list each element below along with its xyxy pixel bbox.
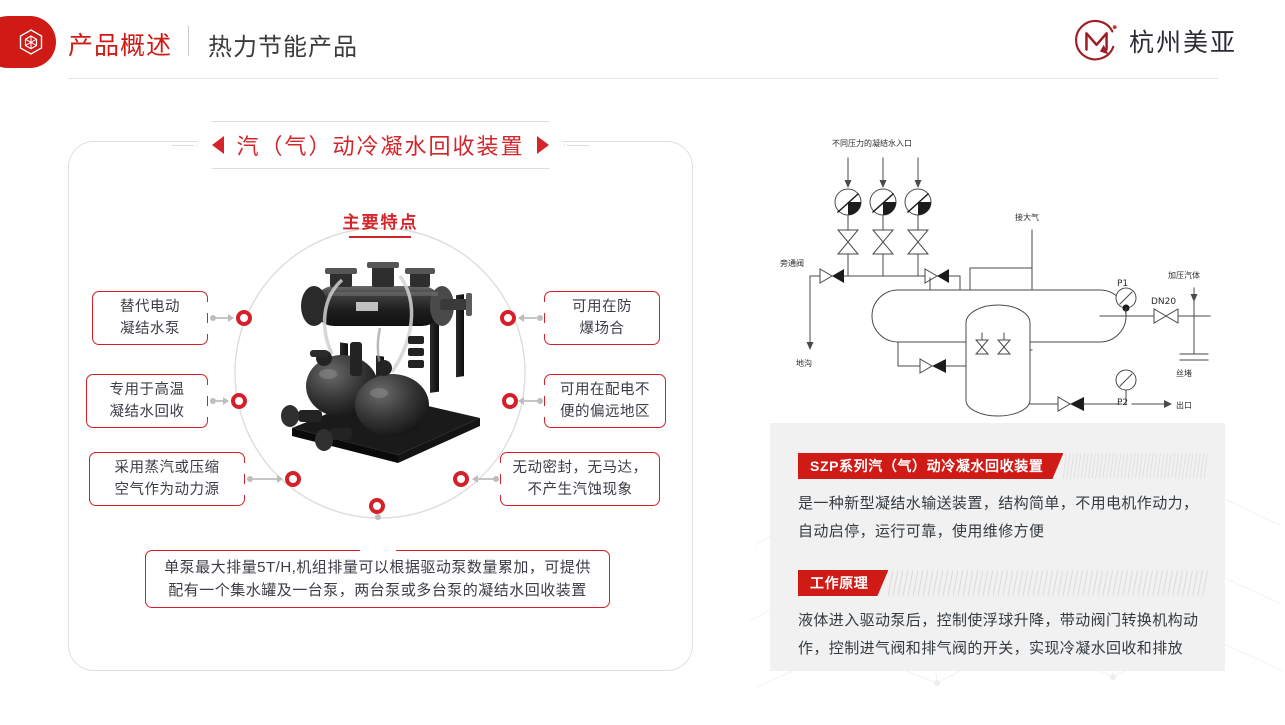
features-heading: 主要特点 bbox=[68, 208, 693, 233]
diagram-label-atmosphere: 接大气 bbox=[1015, 212, 1039, 222]
feature-connector-right-1 bbox=[518, 313, 543, 323]
diagram-label-p2: P2 bbox=[1117, 398, 1128, 408]
schematic-diagram-svg: 不同压力的凝结水入口 旁通阀 接大气 地沟 P1 P2 DN20 加压汽体 丝堵… bbox=[770, 118, 1225, 423]
connector-nub bbox=[493, 476, 499, 482]
feature-dot-6 bbox=[502, 393, 518, 409]
product-photo bbox=[280, 250, 490, 465]
feature-connector-left-1 bbox=[210, 313, 234, 323]
info-section-2-body: 液体进入驱动泵后，控制使浮球升降，带动阀门转换机构动 作，控制进气阀和排气阀的开… bbox=[798, 607, 1208, 663]
diagram-label-bypass: 旁通阀 bbox=[780, 258, 804, 268]
company-logo: 杭州美亚 bbox=[1074, 18, 1237, 64]
feature-box-left-3: 采用蒸汽或压缩 空气作为动力源 bbox=[89, 452, 245, 506]
header-divider bbox=[188, 26, 189, 56]
info-section-2-header: 工作原理 bbox=[798, 570, 1208, 596]
slide-page: 产品概述 热力节能产品 杭州美亚 汽（气）动冷凝水回收装置 主要特点 bbox=[0, 0, 1285, 725]
connector-arrow-icon bbox=[277, 475, 283, 483]
diagram-label-p1: P1 bbox=[1117, 279, 1128, 289]
diagram-label-outlet: 出口 bbox=[1176, 400, 1192, 410]
connector-arrow-icon bbox=[228, 314, 234, 322]
meiya-m-monogram-icon bbox=[1074, 18, 1120, 64]
feature-box-right-3: 无动密封，无马达， 不产生汽蚀现象 bbox=[500, 452, 660, 506]
diagram-label-dn20: DN20 bbox=[1151, 297, 1176, 307]
header-rule bbox=[68, 78, 1218, 79]
page-header: 产品概述 热力节能产品 杭州美亚 bbox=[0, 0, 1285, 84]
info-panel: 不同压力的凝结水入口 旁通阀 接大气 地沟 P1 P2 DN20 加压汽体 丝堵… bbox=[770, 118, 1225, 671]
diagram-label-gas: 加压汽体 bbox=[1168, 270, 1200, 280]
connector-line bbox=[216, 317, 228, 318]
info-section-2-tag: 工作原理 bbox=[798, 570, 888, 596]
feature-box-left-2: 专用于高温 凝结水回收 bbox=[86, 374, 208, 428]
info-section-1: SZP系列汽（气）动冷凝水回收装置 是一种新型凝结水输送装置，结构简单，不用电机… bbox=[798, 453, 1208, 546]
diagram-label-plug: 丝堵 bbox=[1176, 368, 1192, 378]
feature-box-right-1: 可用在防 爆场合 bbox=[544, 291, 660, 345]
connector-line bbox=[524, 400, 537, 401]
diagram-label-inlet: 不同压力的凝结水入口 bbox=[832, 138, 912, 148]
feature-dot-3 bbox=[285, 471, 301, 487]
hatch-decoration bbox=[888, 570, 1208, 596]
feature-box-left-1: 替代电动 凝结水泵 bbox=[92, 291, 208, 345]
feature-connector-right-3 bbox=[472, 474, 499, 484]
header-badge bbox=[0, 16, 56, 68]
feature-dot-1 bbox=[236, 310, 252, 326]
section-ribbon: 汽（气）动冷凝水回收装置 bbox=[196, 121, 565, 169]
info-section-2: 工作原理 液体进入驱动泵后，控制使浮球升降，带动阀门转换机构动 作，控制进气阀和… bbox=[798, 570, 1208, 663]
info-section-1-header: SZP系列汽（气）动冷凝水回收装置 bbox=[798, 453, 1208, 479]
hatch-decoration bbox=[1063, 453, 1208, 479]
connector-nub bbox=[537, 398, 543, 404]
page-subtitle: 热力节能产品 bbox=[208, 27, 358, 62]
feature-connector-right-2 bbox=[518, 396, 543, 406]
ribbon-title: 汽（气）动冷凝水回收装置 bbox=[196, 121, 565, 169]
feature-dot-2 bbox=[231, 393, 247, 409]
company-name: 杭州美亚 bbox=[1129, 23, 1237, 59]
feature-box-bottom: 单泵最大排量5T/H,机组排量可以根据驱动泵数量累加，可提供 配有一个集水罐及一… bbox=[145, 550, 610, 608]
feature-dot-5 bbox=[453, 471, 469, 487]
features-heading-underline bbox=[349, 236, 411, 238]
feature-dot-7 bbox=[500, 310, 516, 326]
feature-dot-4 bbox=[369, 498, 385, 514]
schematic-diagram: 不同压力的凝结水入口 旁通阀 接大气 地沟 P1 P2 DN20 加压汽体 丝堵… bbox=[770, 118, 1225, 423]
info-section-1-tag: SZP系列汽（气）动冷凝水回收装置 bbox=[798, 453, 1063, 479]
feature-connector-bottom bbox=[373, 514, 383, 524]
connector-arrow-icon bbox=[223, 397, 229, 405]
info-section-1-body: 是一种新型凝结水输送装置，结构简单，不用电机作动力， 自动启停，运行可靠，使用维… bbox=[798, 490, 1208, 546]
ribbon-wing-right bbox=[567, 145, 589, 146]
connector-line bbox=[216, 400, 223, 401]
connector-nub bbox=[375, 514, 381, 520]
feature-connector-left-2 bbox=[210, 396, 229, 406]
connector-line bbox=[253, 478, 277, 479]
connector-line bbox=[524, 317, 537, 318]
connector-line bbox=[478, 478, 493, 479]
diagram-label-drain: 地沟 bbox=[796, 358, 812, 368]
feature-box-right-2: 可用在配电不 便的偏远地区 bbox=[544, 374, 666, 428]
cube-icon bbox=[18, 28, 44, 56]
feature-connector-left-3 bbox=[247, 474, 283, 484]
connector-nub bbox=[537, 315, 543, 321]
page-title: 产品概述 bbox=[68, 26, 172, 62]
ribbon-wing-left bbox=[172, 145, 194, 146]
